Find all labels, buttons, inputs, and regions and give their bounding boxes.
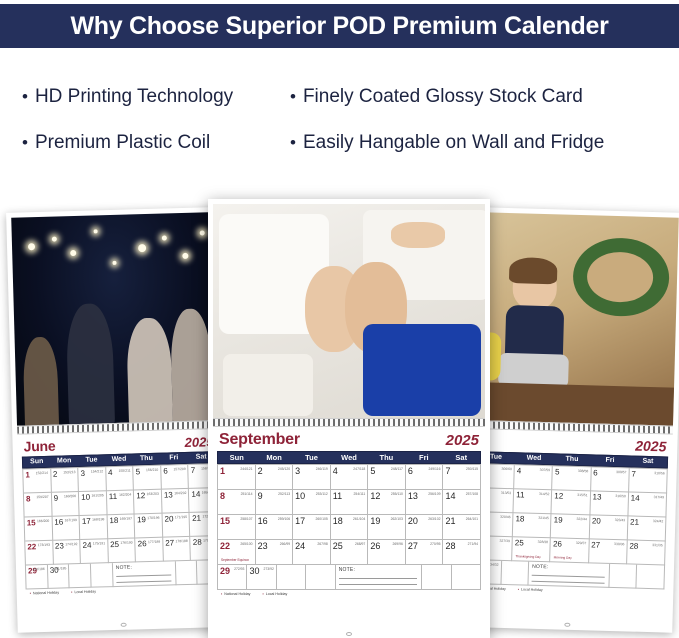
day-cell-empty[interactable] xyxy=(501,561,529,586)
weekday-thu: Thu xyxy=(553,454,591,465)
day-number: 28 xyxy=(445,541,455,551)
day-number: 13 xyxy=(592,492,601,501)
day-of-year: 161/205 xyxy=(91,493,103,497)
note-box[interactable]: NOTE: xyxy=(336,565,422,590)
day-of-year: 177/189 xyxy=(148,540,160,544)
day-of-year: 155/211 xyxy=(119,469,131,473)
day-of-year: 266/99 xyxy=(280,542,290,546)
day-of-year: 246/119 xyxy=(316,467,328,471)
day-of-year: 157/209 xyxy=(173,467,185,471)
day-number: 25 xyxy=(333,541,343,551)
photo-shape xyxy=(473,382,674,426)
day-cell-17[interactable]: 17260/105 xyxy=(293,515,331,540)
day-cell-23[interactable]: 23174/192 xyxy=(53,540,81,565)
calendar-week-row: 1244/1212245/1203246/1194247/1185248/117… xyxy=(218,465,481,490)
note-lines[interactable] xyxy=(532,570,605,588)
calendar-showcase: June 2025 SunMonTueWedThuFriSat 1152/214… xyxy=(0,185,679,638)
day-number: 29 xyxy=(220,566,230,576)
note-lines[interactable] xyxy=(116,569,171,587)
day-cell-14[interactable]: 14317/49 xyxy=(628,492,667,517)
page-title: Why Choose Superior POD Premium Calender xyxy=(70,12,608,41)
day-cell-21[interactable]: 21264/101 xyxy=(443,515,481,540)
day-cell-21[interactable]: 21324/42 xyxy=(628,516,667,541)
day-number: 1 xyxy=(220,466,225,476)
bullet-icon: • xyxy=(290,134,296,151)
day-of-year: 178/188 xyxy=(175,539,187,543)
weekday-mon: Mon xyxy=(50,456,78,467)
day-cell-8[interactable]: 8159/207 xyxy=(24,493,52,518)
calendar-center-month-row: September 2025 xyxy=(217,430,481,451)
legend-local-holiday: Local Holiday xyxy=(518,587,543,592)
day-number: 4 xyxy=(333,466,338,476)
day-of-year: 256/109 xyxy=(428,492,440,496)
calendar-center: September 2025 SunMonTueWedThuFriSat 124… xyxy=(208,199,490,638)
day-of-year: 316/50 xyxy=(615,494,625,498)
day-of-year: 255/110 xyxy=(391,492,403,496)
day-of-year: 258/107 xyxy=(240,517,252,521)
day-of-year: 267/98 xyxy=(317,542,327,546)
day-number: 7 xyxy=(191,466,196,475)
weekday-sat: Sat xyxy=(443,452,480,463)
day-of-year: 321/45 xyxy=(538,516,548,520)
calendar-center-photo xyxy=(213,204,485,418)
day-cell-11[interactable]: 11254/111 xyxy=(331,490,369,515)
day-of-year: 324/42 xyxy=(653,519,663,523)
photo-shape xyxy=(223,354,313,416)
day-of-year: 271/94 xyxy=(468,542,478,546)
day-cell-20[interactable]: 20263/102 xyxy=(406,515,444,540)
photo-shape xyxy=(363,324,481,416)
photo-shape xyxy=(391,222,445,248)
bullet-icon: • xyxy=(290,88,296,105)
day-number: 2 xyxy=(53,470,58,479)
day-of-year: 317/49 xyxy=(654,495,664,499)
day-of-year: 152/214 xyxy=(36,471,48,475)
day-cell-empty[interactable] xyxy=(277,565,306,590)
day-number: 11 xyxy=(333,491,342,501)
weekday-mon: Mon xyxy=(255,452,292,463)
day-number: 21 xyxy=(630,517,639,526)
calendar-right-photo xyxy=(473,212,679,426)
day-cell-4[interactable]: 4155/211 xyxy=(106,466,134,491)
day-cell-empty[interactable] xyxy=(422,565,451,590)
weekday-fri: Fri xyxy=(591,455,629,466)
day-of-year: 323/43 xyxy=(615,518,625,522)
day-number: 12 xyxy=(554,491,563,500)
day-cell-15[interactable]: 15258/107 xyxy=(218,515,256,540)
day-of-year: 257/108 xyxy=(466,492,478,496)
day-of-year: 160/206 xyxy=(64,494,76,498)
day-cell-3[interactable]: 3154/212 xyxy=(78,467,106,492)
note-box[interactable]: NOTE: xyxy=(529,562,610,588)
day-of-year: 153/213 xyxy=(63,470,75,474)
day-number: 14 xyxy=(191,490,200,499)
day-cell-25[interactable]: 25328/38Thanksgiving Day xyxy=(512,537,551,562)
day-cell-7[interactable]: 7250/115 xyxy=(443,465,481,490)
day-of-year: 264/101 xyxy=(466,517,478,521)
sparkler-light-icon xyxy=(162,235,167,240)
weekday-fri: Fri xyxy=(405,452,442,463)
day-number: 10 xyxy=(81,493,90,502)
calendar-center-weeks: 1244/1212245/1203246/1194247/1185248/117… xyxy=(217,464,481,590)
day-number: 9 xyxy=(54,494,59,503)
day-of-year: 310/56 xyxy=(654,471,664,475)
note-box[interactable]: NOTE: xyxy=(113,561,177,587)
legend-local-holiday: Local Holiday xyxy=(71,590,96,595)
day-cell-7[interactable]: 7310/56 xyxy=(629,468,668,493)
day-cell-22[interactable]: 22265/100September Equinox xyxy=(218,540,256,565)
day-cell-30[interactable]: 30181/185 xyxy=(48,564,70,589)
day-cell-1[interactable]: 1152/214 xyxy=(23,469,51,494)
day-cell-5[interactable]: 5308/58 xyxy=(553,466,592,491)
day-cell-15[interactable]: 15166/200 xyxy=(25,517,53,542)
day-number: 3 xyxy=(80,469,85,478)
feature-item-1: • Finely Coated Glossy Stock Card xyxy=(290,86,583,108)
day-cell-2[interactable]: 2153/213 xyxy=(51,468,79,493)
day-of-year: 166/200 xyxy=(37,519,49,523)
day-cell-3[interactable]: 3246/119 xyxy=(293,465,331,490)
day-number: 16 xyxy=(54,517,63,526)
day-number: 26 xyxy=(138,539,147,548)
holiday-label: Thanksgiving Day xyxy=(515,554,540,559)
day-of-year: 313/53 xyxy=(501,491,511,495)
calendar-week-row: 22265/100September Equinox23266/9924267/… xyxy=(218,540,481,565)
day-number: 25 xyxy=(110,540,119,549)
day-number: 8 xyxy=(220,491,225,501)
day-cell-2[interactable]: 2245/120 xyxy=(256,465,294,490)
day-of-year: 244/121 xyxy=(240,467,252,471)
day-cell-29[interactable]: 29272/93 xyxy=(218,565,247,590)
feature-item-3: • Easily Hangable on Wall and Fridge xyxy=(290,132,604,154)
day-number: 15 xyxy=(220,516,230,526)
day-of-year: 173/193 xyxy=(38,543,50,547)
day-cell-empty[interactable] xyxy=(609,564,637,589)
day-number: 7 xyxy=(631,470,636,479)
calendar-left-month: June xyxy=(23,438,55,455)
photo-shape xyxy=(509,257,558,284)
day-of-year: 254/111 xyxy=(354,492,366,496)
day-cell-16[interactable]: 16259/106 xyxy=(256,515,294,540)
day-of-year: 245/120 xyxy=(278,467,290,471)
day-cell-empty[interactable] xyxy=(176,561,198,586)
legend-national-holiday: National Holiday xyxy=(30,591,60,596)
day-of-year: 175/191 xyxy=(93,541,105,545)
day-of-year: 261/104 xyxy=(353,517,365,521)
day-cell-16[interactable]: 16167/199 xyxy=(52,516,80,541)
day-number: 19 xyxy=(370,516,380,526)
day-cell-11[interactable]: 11162/204 xyxy=(107,490,135,515)
day-cell-10[interactable]: 10253/112 xyxy=(293,490,331,515)
day-of-year: 327/39 xyxy=(499,539,509,543)
calendar-left-weeks: 1152/2142153/2133154/2124155/2115156/210… xyxy=(22,463,219,589)
day-number: 4 xyxy=(108,468,113,477)
day-number: 26 xyxy=(370,541,380,551)
weekday-sat: Sat xyxy=(629,456,667,467)
day-cell-empty[interactable] xyxy=(91,563,113,588)
day-cell-1[interactable]: 1244/121 xyxy=(218,465,256,490)
day-cell-24[interactable]: 24267/98 xyxy=(293,540,331,565)
day-cell-17[interactable]: 17168/198 xyxy=(80,515,108,540)
calendar-right: 2025 TueWedThuFriSat 3306/604307/595308/… xyxy=(462,207,679,633)
feature-item-0: • HD Printing Technology xyxy=(22,86,233,108)
day-cell-30[interactable]: 30273/92 xyxy=(247,565,276,590)
day-cell-20[interactable]: 20171/195 xyxy=(162,513,190,538)
day-number: 25 xyxy=(515,538,524,547)
sparkler-light-icon xyxy=(138,244,146,252)
day-cell-12[interactable]: 12255/110 xyxy=(368,490,406,515)
day-number: 13 xyxy=(164,490,173,499)
day-cell-5[interactable]: 5248/117 xyxy=(368,465,406,490)
day-cell-empty[interactable] xyxy=(637,565,665,590)
day-cell-19[interactable]: 19170/196 xyxy=(135,514,163,539)
day-cell-18[interactable]: 18321/45 xyxy=(513,513,552,538)
calendar-center-weekday-bar: SunMonTueWedThuFriSat xyxy=(217,451,481,464)
day-cell-26[interactable]: 26329/37Morning Day xyxy=(551,538,590,563)
day-cell-25[interactable]: 25176/190 xyxy=(108,538,136,563)
day-number: 6 xyxy=(163,467,168,476)
day-of-year: 268/97 xyxy=(355,542,365,546)
calendar-left-photo xyxy=(11,212,219,426)
day-of-year: 315/51 xyxy=(577,493,587,497)
day-cell-12[interactable]: 12315/51 xyxy=(552,490,591,515)
day-of-year: 181/185 xyxy=(54,566,66,570)
day-number: 20 xyxy=(592,516,601,525)
day-number: 8 xyxy=(26,494,31,503)
day-cell-20[interactable]: 20323/43 xyxy=(589,515,628,540)
day-cell-28[interactable]: 28331/35 xyxy=(627,540,666,565)
header-banner: Why Choose Superior POD Premium Calender xyxy=(0,4,679,48)
day-number: 26 xyxy=(553,539,562,548)
day-cell-28[interactable]: 28271/94 xyxy=(443,540,481,565)
day-cell-empty[interactable] xyxy=(452,565,481,590)
legend-local-holiday: Local Holiday xyxy=(262,592,287,596)
day-number: 6 xyxy=(408,466,413,476)
holiday-label: September Equinox xyxy=(221,558,249,562)
day-of-year: 163/203 xyxy=(147,492,159,496)
day-number: 18 xyxy=(333,516,343,526)
day-cell-empty[interactable] xyxy=(306,565,335,590)
day-number: 21 xyxy=(445,516,455,526)
day-of-year: 273/92 xyxy=(264,567,274,571)
day-number: 17 xyxy=(82,517,91,526)
weekday-wed: Wed xyxy=(105,454,133,465)
person-silhouette xyxy=(126,317,173,425)
day-cell-6[interactable]: 6157/209 xyxy=(161,465,189,490)
day-number: 5 xyxy=(370,466,375,476)
day-of-year: 263/102 xyxy=(428,517,440,521)
day-number: 1 xyxy=(25,470,30,479)
day-cell-6[interactable]: 6249/116 xyxy=(406,465,444,490)
calendar-left: June 2025 SunMonTueWedThuFriSat 1152/214… xyxy=(6,207,230,633)
day-cell-11[interactable]: 11314/52 xyxy=(514,489,553,514)
day-of-year: 330/36 xyxy=(614,542,624,546)
bullet-icon: • xyxy=(22,88,28,105)
day-cell-18[interactable]: 18261/104 xyxy=(331,515,369,540)
day-number: 3 xyxy=(295,466,300,476)
day-of-year: 250/115 xyxy=(466,467,478,471)
person-silhouette xyxy=(66,303,115,426)
day-cell-27[interactable]: 27330/36 xyxy=(589,539,628,564)
day-number: 16 xyxy=(258,516,268,526)
day-of-year: 262/103 xyxy=(391,517,403,521)
day-of-year: 260/105 xyxy=(315,517,327,521)
day-number: 11 xyxy=(109,492,118,501)
calendar-week-row: 15258/10716259/10617260/10518261/1041926… xyxy=(218,515,481,540)
calendar-center-year: 2025 xyxy=(446,432,479,449)
weekday-wed: Wed xyxy=(330,452,367,463)
day-number: 12 xyxy=(136,491,145,500)
calendar-week-row: 8251/1149252/11310253/11211254/11112255/… xyxy=(218,490,481,515)
day-of-year: 307/59 xyxy=(540,468,550,472)
day-number: 30 xyxy=(249,566,259,576)
day-number: 5 xyxy=(555,467,560,476)
day-cell-18[interactable]: 18169/197 xyxy=(107,514,135,539)
weekday-tue: Tue xyxy=(78,455,106,466)
day-number: 14 xyxy=(631,493,640,502)
day-of-year: 329/37 xyxy=(576,541,586,545)
day-cell-13[interactable]: 13316/50 xyxy=(590,491,629,516)
day-of-year: 248/117 xyxy=(391,467,403,471)
calendar-center-month: September xyxy=(219,431,300,449)
day-cell-9[interactable]: 9160/206 xyxy=(51,492,79,517)
weekday-thu: Thu xyxy=(133,454,161,465)
day-number: 20 xyxy=(164,514,173,523)
day-cell-14[interactable]: 14257/108 xyxy=(443,490,481,515)
day-cell-8[interactable]: 8251/114 xyxy=(218,490,256,515)
person-silhouette xyxy=(170,308,213,425)
day-number: 28 xyxy=(629,541,638,550)
day-cell-4[interactable]: 4307/59 xyxy=(514,465,553,490)
day-cell-25[interactable]: 25268/97 xyxy=(331,540,369,565)
day-number: 17 xyxy=(295,516,305,526)
hanging-hole-icon xyxy=(346,632,352,636)
day-cell-12[interactable]: 12163/203 xyxy=(134,490,162,515)
legend-national-holiday: National Holiday xyxy=(221,592,250,596)
day-cell-6[interactable]: 6309/57 xyxy=(591,467,630,492)
day-of-year: 170/196 xyxy=(147,516,159,520)
day-cell-19[interactable]: 19322/44 xyxy=(551,514,590,539)
day-of-year: 247/118 xyxy=(353,467,365,471)
day-of-year: 176/190 xyxy=(120,541,132,545)
day-number: 5 xyxy=(136,467,141,476)
day-cell-26[interactable]: 26177/189 xyxy=(136,538,164,563)
day-number: 7 xyxy=(445,466,450,476)
day-cell-23[interactable]: 23266/99 xyxy=(256,540,294,565)
day-of-year: 328/38 xyxy=(538,540,548,544)
sparkler-light-icon xyxy=(182,253,188,259)
sparkler-light-icon xyxy=(200,230,205,235)
day-cell-26[interactable]: 26269/96 xyxy=(368,540,406,565)
day-number: 13 xyxy=(408,491,418,501)
day-cell-22[interactable]: 22173/193 xyxy=(25,541,53,566)
day-of-year: 314/52 xyxy=(539,492,549,496)
day-number: 19 xyxy=(554,515,563,524)
day-of-year: 269/96 xyxy=(393,542,403,546)
spiral-coil-icon xyxy=(213,418,485,427)
day-number: 9 xyxy=(258,491,263,501)
weekday-tue: Tue xyxy=(293,452,330,463)
day-number: 14 xyxy=(445,491,455,501)
note-lines[interactable] xyxy=(339,573,417,590)
day-of-year: 168/198 xyxy=(92,517,104,521)
day-of-year: 167/199 xyxy=(65,518,77,522)
day-of-year: 159/207 xyxy=(36,495,48,499)
day-number: 21 xyxy=(192,514,201,523)
day-number: 23 xyxy=(55,541,64,550)
day-of-year: 252/113 xyxy=(278,492,290,496)
calendar-right-weeks: 3306/604307/595308/586309/577310/5610313… xyxy=(472,463,667,589)
day-of-year: 249/116 xyxy=(428,467,440,471)
day-of-year: 180/186 xyxy=(32,567,44,571)
sparkler-light-icon xyxy=(70,250,76,256)
page-root: Why Choose Superior POD Premium Calender… xyxy=(0,0,679,638)
day-number: 23 xyxy=(258,541,268,551)
day-of-year: 253/112 xyxy=(316,492,328,496)
day-cell-13[interactable]: 13256/109 xyxy=(406,490,444,515)
day-cell-empty[interactable] xyxy=(69,564,91,589)
weekday-sun: Sun xyxy=(218,452,255,463)
day-number: 27 xyxy=(591,540,600,549)
day-of-year: 331/35 xyxy=(652,543,662,547)
weekday-sun: Sun xyxy=(23,457,51,468)
calendar-right-year: 2025 xyxy=(635,438,667,455)
weekday-thu: Thu xyxy=(368,452,405,463)
day-of-year: 320/46 xyxy=(500,515,510,519)
day-number: 6 xyxy=(593,468,598,477)
day-of-year: 171/195 xyxy=(175,515,187,519)
day-number: 12 xyxy=(370,491,380,501)
day-cell-29[interactable]: 29180/186 xyxy=(26,565,48,590)
day-number: 19 xyxy=(137,515,146,524)
day-cell-24[interactable]: 24175/191 xyxy=(80,539,108,564)
day-number: 28 xyxy=(193,538,202,547)
hanging-hole-icon xyxy=(121,623,127,627)
feature-label-3: Easily Hangable on Wall and Fridge xyxy=(303,132,604,154)
day-of-year: 251/114 xyxy=(241,492,253,496)
day-number: 24 xyxy=(82,541,91,550)
calendar-week-row: 29272/9330273/92NOTE: xyxy=(218,565,481,590)
hanging-hole-icon xyxy=(564,623,570,627)
day-cell-13[interactable]: 13164/202 xyxy=(162,489,190,514)
day-of-year: 306/60 xyxy=(501,467,511,471)
day-cell-10[interactable]: 10161/205 xyxy=(79,491,107,516)
calendar-center-legend: National HolidayLocal Holiday xyxy=(217,590,481,596)
day-cell-4[interactable]: 4247/118 xyxy=(331,465,369,490)
day-of-year: 309/57 xyxy=(616,470,626,474)
day-cell-27[interactable]: 27178/188 xyxy=(163,537,191,562)
day-of-year: 169/197 xyxy=(120,517,132,521)
day-of-year: 174/192 xyxy=(65,542,77,546)
day-of-year: 322/44 xyxy=(577,517,587,521)
day-cell-9[interactable]: 9252/113 xyxy=(256,490,294,515)
day-number: 10 xyxy=(295,491,305,501)
day-number: 15 xyxy=(27,518,36,527)
feature-label-0: HD Printing Technology xyxy=(35,86,233,108)
day-number: 20 xyxy=(408,516,418,526)
day-of-year: 162/204 xyxy=(119,493,131,497)
day-of-year: 270/95 xyxy=(430,542,440,546)
feature-list: • HD Printing Technology • Finely Coated… xyxy=(0,62,679,177)
day-number: 27 xyxy=(165,538,174,547)
day-of-year: 154/212 xyxy=(91,469,103,473)
day-number: 27 xyxy=(408,541,418,551)
day-number: 22 xyxy=(220,541,230,551)
day-cell-19[interactable]: 19262/103 xyxy=(368,515,406,540)
bullet-icon: • xyxy=(22,134,28,151)
day-cell-27[interactable]: 27270/95 xyxy=(406,540,444,565)
day-cell-5[interactable]: 5156/210 xyxy=(134,466,162,491)
sparkler-light-icon xyxy=(112,261,116,265)
